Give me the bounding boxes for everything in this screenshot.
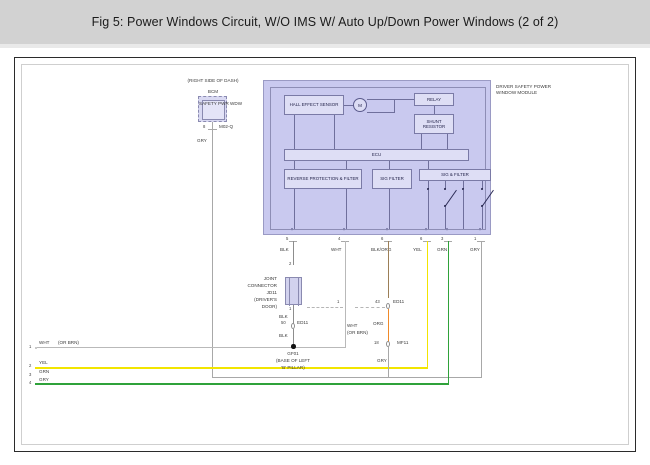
- driver-safety-power-window-module: HALL EFFECT SENSOR M RELAY SHUNT RESISTO…: [263, 80, 491, 235]
- bcm-connector-id: M02-Q: [219, 124, 233, 130]
- terminal-arrow-blk: [291, 228, 293, 231]
- ecu-to-reverse-right: [346, 161, 347, 169]
- relay-block: RELAY: [414, 93, 454, 106]
- motor-symbol: M: [353, 98, 367, 112]
- terminal-color-blk: BLK: [280, 247, 289, 253]
- wire-grn-to-left-terminal: [35, 383, 449, 385]
- wire-gry-right-vertical: [481, 241, 482, 378]
- org-branch-bottom-pin: 18: [374, 340, 379, 345]
- terminal-leg-wht: [346, 189, 347, 229]
- switch-leg-down-2: [482, 207, 483, 229]
- diagram-page: Fig 5: Power Windows Circuit, W/O IMS W/…: [0, 0, 650, 465]
- joint-connector-label-2: CONNECTOR: [223, 283, 277, 289]
- org-branch-top-connector: ED11: [393, 299, 404, 305]
- terminal-leg-yel: [428, 190, 429, 229]
- hall-sensor-to-ecu-right: [334, 115, 335, 149]
- terminal-color-gry: GRY: [470, 247, 480, 253]
- shunt-resistor-label: SHUNT RESISTOR: [415, 119, 453, 130]
- wire-wht-vertical: [345, 241, 346, 348]
- diagram-sheet: (RIGHT SIDE OF DASH) BCM SAFETY PWR WDW …: [14, 57, 636, 452]
- bcm-pin-number: 8: [203, 124, 205, 129]
- wire-gry-bcm-vertical: [212, 130, 213, 378]
- terminal-pin-grn: 3: [441, 236, 443, 241]
- reverse-protection-filter-block: REVERSE PROTECTION & FILTER: [284, 169, 362, 189]
- wht-branch-dashed-line: [307, 307, 343, 308]
- bcm-fuse-block[interactable]: SAFETY PWR WDW: [198, 96, 227, 122]
- joint-connector-label-5: DOOR): [231, 304, 277, 310]
- sig-filter-label: SIG FILTER: [380, 176, 404, 181]
- wire-org-vertical: [388, 309, 389, 343]
- module-title-line1: DRIVER SAFETY POWER: [496, 84, 551, 90]
- ecu-block: ECU: [284, 149, 469, 161]
- left-terminal-color-3: GRN: [39, 369, 49, 375]
- shunt-resistor-block: SHUNT RESISTOR: [414, 114, 454, 134]
- org-branch-bottom-connector: MF11: [397, 340, 408, 346]
- wire-blk-splice-to-ground: [293, 329, 294, 345]
- ecu-to-sig-filter: [389, 161, 390, 169]
- joint-connector-wire-below: BLK: [279, 314, 288, 320]
- wire-yel-vertical: [427, 241, 429, 368]
- bcm-fuse-label: SAFETY PWR WDW: [199, 101, 228, 107]
- ground-splice-pin: 50: [281, 320, 286, 325]
- sig-and-filter-block: SIG & FILTER: [419, 169, 491, 181]
- left-terminal-color-2: YEL: [39, 360, 48, 366]
- wire-wht-to-left-terminal: [35, 347, 346, 348]
- relay-label: RELAY: [427, 97, 441, 102]
- org-branch-dashed-line: [355, 307, 385, 308]
- shunt-to-ecu-right: [447, 134, 448, 149]
- page-title: Fig 5: Power Windows Circuit, W/O IMS W/…: [92, 15, 559, 29]
- wire-blk-to-joint: [293, 241, 294, 265]
- ground-location-line1: (BASE OF LEFT: [263, 358, 323, 364]
- sig-filter-block: SIG FILTER: [372, 169, 412, 189]
- terminal-pin-gry: 1: [474, 236, 476, 241]
- left-terminal-color-4: GRY: [39, 377, 49, 383]
- ecu-to-reverse-left: [294, 161, 295, 169]
- terminal-leg-blk: [294, 189, 295, 229]
- hall-effect-sensor-label: HALL EFFECT SENSOR: [290, 102, 339, 107]
- switch-leg-down-1: [445, 207, 446, 229]
- terminal-color-wht: WHT: [331, 247, 341, 253]
- title-bar-underline: [0, 44, 650, 48]
- sig-and-filter-label: SIG & FILTER: [441, 172, 469, 177]
- left-terminal-color-1-alt: (OR BRN): [58, 340, 79, 346]
- title-bar: Fig 5: Power Windows Circuit, W/O IMS W/…: [0, 0, 650, 44]
- ecu-label: ECU: [372, 152, 381, 157]
- reverse-protection-filter-label: REVERSE PROTECTION & FILTER: [287, 176, 358, 181]
- joint-connector-label-1: JOINT: [231, 276, 277, 282]
- left-terminal-pin-1: 1: [29, 344, 31, 349]
- wire-grn-vertical: [448, 241, 450, 384]
- wire-blkorg-vertical: [388, 241, 389, 298]
- terminal-leg-blkorg: [389, 189, 390, 229]
- org-branch-top-pin: 43: [375, 299, 380, 304]
- hall-effect-sensor-block: HALL EFFECT SENSOR: [284, 95, 344, 115]
- ground-point-symbol: [291, 344, 296, 349]
- joint-connector-label-3: JD11: [231, 290, 277, 296]
- motor-bottom-lead: [367, 112, 395, 113]
- joint-connector-bottom-pin: 1: [289, 306, 291, 311]
- joint-connector-bar-right: [298, 278, 299, 306]
- ground-wire-color: BLK: [279, 333, 288, 339]
- terminal-pin-blk: 5: [286, 236, 288, 241]
- terminal-arrow-wht: [343, 228, 345, 231]
- wire-gry-bottom-horizontal: [212, 377, 482, 378]
- ground-splice-connector: ED11: [297, 320, 308, 326]
- motor-loop-right: [394, 99, 395, 113]
- ground-location-line2: 'B' PILLAR): [263, 365, 323, 371]
- terminal-arrow-blkorg: [386, 228, 388, 231]
- bcm-wire-color: GRY: [197, 138, 207, 144]
- module-title-line2: WINDOW MODULE: [496, 90, 537, 96]
- wire-yel-to-left-terminal: [35, 367, 428, 369]
- terminal-arrow-yel: [425, 228, 427, 231]
- joint-connector-body[interactable]: [285, 277, 302, 305]
- wire-blk-joint-to-splice: [293, 305, 294, 325]
- joint-connector-bar-left: [289, 278, 290, 306]
- motor-top-lead: [367, 99, 395, 100]
- terminal-color-grn: GRN: [437, 247, 447, 253]
- bcm-location-label: (RIGHT SIDE OF DASH): [185, 78, 241, 84]
- left-terminal-pin-3: 3: [29, 372, 31, 377]
- left-terminal-pin-2: 2: [29, 363, 31, 368]
- terminal-leg-grn: [463, 190, 464, 229]
- ecu-to-sig-and-filter: [428, 161, 429, 169]
- terminal-arrow-grn: [446, 228, 448, 231]
- route-anchor: [35, 347, 37, 349]
- wht-branch-pin: 1: [337, 299, 339, 304]
- wht-branch-color: WHT: [347, 323, 357, 329]
- terminal-color-yel: YEL: [413, 247, 422, 253]
- shunt-to-ecu-left: [421, 134, 422, 149]
- terminal-pin-blkorg: 6: [381, 236, 383, 241]
- wire-gry-org-branch-lower: [388, 347, 389, 378]
- wht-branch-color-alt: (OR BRN): [347, 330, 368, 336]
- left-terminal-pin-4: 4: [29, 380, 31, 385]
- bcm-name-label: BCM: [185, 89, 241, 95]
- motor-label: M: [358, 103, 362, 108]
- hall-sensor-to-ecu-left: [294, 115, 295, 149]
- org-branch-lower-color: GRY: [377, 358, 387, 364]
- joint-connector-label-4: (DRIVER'S: [227, 297, 277, 303]
- org-branch-color: ORG: [373, 321, 383, 327]
- ground-name: GF01: [273, 351, 313, 357]
- left-terminal-color-1: WHT: [39, 340, 49, 346]
- terminal-pin-yel: 6: [420, 236, 422, 241]
- joint-connector-top-pin: 2: [289, 261, 291, 266]
- terminal-pin-wht: 4: [338, 236, 340, 241]
- terminal-arrow-gry: [479, 228, 481, 231]
